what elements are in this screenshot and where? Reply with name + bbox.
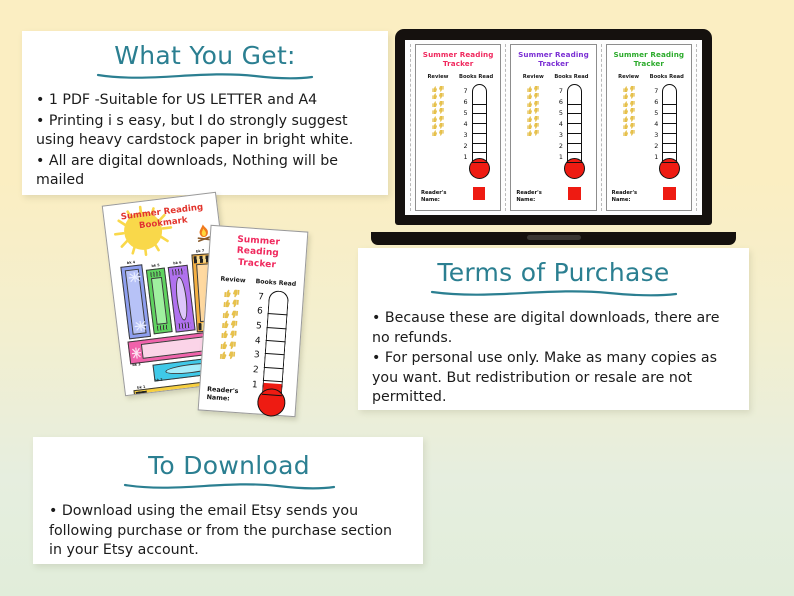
readers-name-line1: Reader's bbox=[516, 190, 541, 196]
review-thumbs-column bbox=[611, 82, 647, 206]
thermometer-tick bbox=[472, 104, 487, 105]
readers-name-line2: Name: bbox=[206, 393, 230, 403]
tracker-title-line1: Summer Reading bbox=[423, 50, 494, 59]
thermometer-tick bbox=[662, 113, 677, 114]
thumb-pair bbox=[623, 101, 635, 107]
thumbs-up-icon bbox=[623, 108, 628, 114]
terms-bullets: • Because these are digital downloads, t… bbox=[372, 309, 735, 408]
thumb-pair bbox=[623, 116, 635, 122]
thumb-pair bbox=[527, 116, 539, 122]
thermometer-tick bbox=[567, 113, 582, 114]
thumbs-down-icon bbox=[630, 123, 635, 129]
tracker-title-line1: Summer Reading bbox=[236, 235, 280, 259]
thumbs-down-icon bbox=[439, 130, 444, 136]
thumbs-down-icon bbox=[534, 123, 539, 129]
scale-number: 1 bbox=[252, 380, 258, 390]
thumbs-down-icon bbox=[630, 130, 635, 136]
thumbs-down-icon bbox=[630, 86, 635, 92]
thumbs-up-icon bbox=[432, 116, 437, 122]
screen-divider bbox=[505, 44, 506, 211]
thermometer-tick bbox=[567, 162, 582, 163]
scale-number: 6 bbox=[257, 307, 263, 317]
thumbs-up-icon bbox=[223, 299, 231, 307]
tracker-header-review: Review bbox=[515, 74, 551, 80]
thumbs-up-icon bbox=[527, 123, 532, 129]
screen-divider bbox=[601, 44, 602, 211]
thumbs-down-icon bbox=[439, 123, 444, 129]
scale-number: 6 bbox=[654, 98, 658, 106]
thumb-pair bbox=[432, 86, 444, 92]
tracker-header-review: Review bbox=[420, 74, 456, 80]
thumb-pair bbox=[432, 123, 444, 129]
title-swoosh-icon bbox=[95, 71, 315, 82]
laptop-screen: Summer Reading Tracker Review Books Read… bbox=[405, 40, 702, 215]
tracker-header-review: Review bbox=[611, 74, 647, 80]
bullet-item: • 1 PDF -Suitable for US LETTER and A4 bbox=[36, 91, 374, 111]
readers-name-line2: Name: bbox=[421, 197, 440, 203]
sparkle-icon bbox=[130, 346, 143, 360]
scale-number: 7 bbox=[654, 87, 658, 95]
scale-number: 4 bbox=[255, 336, 261, 346]
thermometer-icon bbox=[565, 84, 584, 206]
scale-number: 6 bbox=[464, 98, 468, 106]
thumb-pair bbox=[432, 101, 444, 107]
thumbs-down-icon bbox=[630, 108, 635, 114]
thumbs-up-icon bbox=[623, 101, 628, 107]
thumbs-up-icon bbox=[432, 101, 437, 107]
scale-number: 2 bbox=[559, 142, 563, 150]
thumbs-up-icon bbox=[527, 86, 532, 92]
scale-number: 4 bbox=[654, 120, 658, 128]
laptop-lid: Summer Reading Tracker Review Books Read… bbox=[395, 29, 712, 225]
thumbs-down-icon bbox=[439, 116, 444, 122]
thumbs-down-icon bbox=[534, 116, 539, 122]
thumbs-up-icon bbox=[224, 289, 232, 297]
scale-number: 2 bbox=[253, 365, 259, 375]
terms-title: Terms of Purchase bbox=[372, 258, 735, 287]
scale-number: 5 bbox=[654, 109, 658, 117]
thumbs-up-icon bbox=[432, 108, 437, 114]
thumbs-down-icon bbox=[534, 101, 539, 107]
thumbs-up-icon bbox=[623, 123, 628, 129]
thermometer-tick bbox=[567, 123, 582, 124]
thumb-pair bbox=[432, 130, 444, 136]
thermometer-tick bbox=[567, 143, 582, 144]
download-title: To Download bbox=[49, 451, 409, 480]
bullet-item: • Download using the email Etsy sends yo… bbox=[49, 502, 409, 561]
scale-number: 3 bbox=[654, 131, 658, 139]
thumb-pair bbox=[527, 86, 539, 92]
scale-number: 4 bbox=[559, 120, 563, 128]
thermometer-icon bbox=[470, 84, 489, 206]
thumbs-down-icon bbox=[229, 341, 237, 349]
thumbs-down-icon bbox=[534, 130, 539, 136]
thermometer-tick bbox=[662, 143, 677, 144]
tracker-title-line2: Tracker bbox=[538, 59, 568, 68]
thumbs-up-icon bbox=[623, 93, 628, 99]
scale-number: 1 bbox=[559, 153, 563, 161]
tracker-header-books: Books Read bbox=[456, 74, 496, 80]
thumbs-up-icon bbox=[220, 341, 228, 349]
thermometer-tick bbox=[662, 104, 677, 105]
thermometer-tick bbox=[567, 152, 582, 153]
thumbs-up-icon bbox=[623, 130, 628, 136]
laptop-base bbox=[371, 232, 736, 245]
thumbs-down-icon bbox=[630, 93, 635, 99]
thumbs-up-icon bbox=[219, 351, 227, 359]
readers-name-line2: Name: bbox=[516, 197, 535, 203]
bullet-item: • For personal use only. Make as many co… bbox=[372, 349, 735, 408]
tracker-title-line2: Tracker bbox=[238, 257, 277, 270]
bullet-item: • Printing i s easy, but I do strongly s… bbox=[36, 112, 374, 151]
thumbs-down-icon bbox=[233, 289, 241, 297]
thumb-pair bbox=[221, 330, 238, 339]
what-you-get-card: What You Get: • 1 PDF -Suitable for US L… bbox=[22, 31, 388, 195]
readers-name-line2: Name: bbox=[612, 197, 631, 203]
tracker-title-line1: Summer Reading bbox=[613, 50, 684, 59]
laptop-trackpad-notch bbox=[527, 235, 581, 240]
thumb-pair bbox=[527, 123, 539, 129]
tracker-card: Summer Reading Tracker Review Books Read… bbox=[606, 44, 692, 211]
readers-name-line1: Reader's bbox=[421, 190, 446, 196]
review-thumbs-column bbox=[515, 82, 551, 206]
bullet-item: • Because these are digital downloads, t… bbox=[372, 309, 735, 348]
scale-number: 7 bbox=[464, 87, 468, 95]
thumbs-down-icon bbox=[232, 300, 240, 308]
thumbs-up-icon bbox=[527, 93, 532, 99]
tracker-card: Summer Reading Tracker Review Books Read… bbox=[510, 44, 596, 211]
tracker-title-line2: Tracker bbox=[634, 59, 664, 68]
thumb-pair bbox=[223, 299, 240, 308]
book-label: bk 3 bbox=[132, 362, 141, 367]
scale-number: 3 bbox=[254, 351, 260, 361]
scale-number: 6 bbox=[559, 98, 563, 106]
thumbs-up-icon bbox=[527, 116, 532, 122]
book-label: bk 2 bbox=[154, 378, 163, 383]
thumbs-up-icon bbox=[432, 86, 437, 92]
thermometer-tick bbox=[662, 152, 677, 153]
thumb-pair bbox=[222, 309, 239, 318]
thumb-pair bbox=[623, 86, 635, 92]
scale-number: 5 bbox=[256, 321, 262, 331]
scale-number: 3 bbox=[464, 131, 468, 139]
title-swoosh-icon bbox=[122, 481, 337, 492]
title-swoosh-icon bbox=[429, 288, 679, 299]
thermometer-tick bbox=[472, 152, 487, 153]
thumb-pair bbox=[220, 341, 237, 350]
thermometer-tick bbox=[662, 123, 677, 124]
thermometer-tick bbox=[567, 133, 582, 134]
thumb-pair bbox=[623, 93, 635, 99]
laptop-mockup: Summer Reading Tracker Review Books Read… bbox=[371, 29, 736, 245]
scale-number: 1 bbox=[464, 153, 468, 161]
thumbs-up-icon bbox=[222, 309, 230, 317]
what-you-get-title: What You Get: bbox=[36, 41, 374, 70]
thumbs-up-icon bbox=[432, 93, 437, 99]
thumbs-up-icon bbox=[527, 101, 532, 107]
thumb-pair bbox=[623, 130, 635, 136]
terms-of-purchase-card: Terms of Purchase • Because these are di… bbox=[358, 248, 749, 410]
thumbs-up-icon bbox=[432, 123, 437, 129]
scale-number: 3 bbox=[559, 131, 563, 139]
thermometer-tick bbox=[662, 162, 677, 163]
thumb-pair bbox=[222, 320, 239, 329]
thumb-pair bbox=[527, 101, 539, 107]
thumb-pair bbox=[432, 93, 444, 99]
scale-number: 5 bbox=[559, 109, 563, 117]
thumb-pair bbox=[527, 108, 539, 114]
thumbs-down-icon bbox=[231, 320, 239, 328]
what-you-get-bullets: • 1 PDF -Suitable for US LETTER and A4 •… bbox=[36, 91, 374, 191]
thumb-pair bbox=[527, 130, 539, 136]
screen-divider bbox=[410, 44, 411, 211]
thumbs-down-icon bbox=[231, 310, 239, 318]
thumbs-down-icon bbox=[439, 93, 444, 99]
thumbs-up-icon bbox=[432, 130, 437, 136]
tracker-header-review: Review bbox=[213, 275, 254, 285]
scale-number: 7 bbox=[559, 87, 563, 95]
scale-number: 5 bbox=[464, 109, 468, 117]
thermometer-icon bbox=[660, 84, 679, 206]
bullet-item: • All are digital downloads, Nothing wil… bbox=[36, 152, 374, 191]
scale-number: 7 bbox=[258, 292, 264, 302]
thumbs-up-icon bbox=[221, 330, 229, 338]
thumbs-down-icon bbox=[228, 351, 236, 359]
tracker-header-books: Books Read bbox=[647, 74, 687, 80]
tracker-title-line1: Summer Reading bbox=[518, 50, 589, 59]
review-thumbs-column bbox=[420, 82, 456, 206]
thumbs-down-icon bbox=[534, 108, 539, 114]
download-bullets: • Download using the email Etsy sends yo… bbox=[49, 502, 409, 561]
thermometer-tick bbox=[567, 104, 582, 105]
screen-divider bbox=[696, 44, 697, 211]
thumb-pair bbox=[224, 289, 241, 298]
thumbs-up-icon bbox=[222, 320, 230, 328]
thermometer-tick bbox=[472, 113, 487, 114]
thumbs-down-icon bbox=[630, 101, 635, 107]
thermometer-tick bbox=[472, 143, 487, 144]
vertical-book bbox=[168, 265, 196, 333]
thermometer-tick bbox=[472, 133, 487, 134]
thumbs-up-icon bbox=[623, 116, 628, 122]
thumbs-down-icon bbox=[230, 331, 238, 339]
scale-number: 4 bbox=[464, 120, 468, 128]
thumbs-down-icon bbox=[439, 101, 444, 107]
thumb-pair bbox=[219, 351, 236, 360]
thumbs-up-icon bbox=[527, 108, 532, 114]
to-download-card: To Download • Download using the email E… bbox=[33, 437, 423, 564]
scale-number: 2 bbox=[464, 142, 468, 150]
tracker-header-books: Books Read bbox=[551, 74, 591, 80]
tracker-printable: Summer Reading Tracker Review Books Read… bbox=[198, 225, 309, 417]
thumb-pair bbox=[623, 108, 635, 114]
thumb-pair bbox=[527, 93, 539, 99]
thermometer-tick bbox=[662, 133, 677, 134]
sparkle-icon bbox=[126, 270, 143, 284]
scale-number: 1 bbox=[654, 153, 658, 161]
thumbs-up-icon bbox=[527, 130, 532, 136]
thumbs-down-icon bbox=[534, 86, 539, 92]
thumbs-down-icon bbox=[630, 116, 635, 122]
thumb-pair bbox=[432, 108, 444, 114]
thermometer-tick bbox=[472, 123, 487, 124]
thumbs-up-icon bbox=[623, 86, 628, 92]
thumbs-down-icon bbox=[439, 108, 444, 114]
thumbs-down-icon bbox=[439, 86, 444, 92]
thumbs-down-icon bbox=[534, 93, 539, 99]
scale-number: 2 bbox=[654, 142, 658, 150]
tracker-card: Summer Reading Tracker Review Books Read… bbox=[415, 44, 501, 211]
tracker-title-line2: Tracker bbox=[443, 59, 473, 68]
sparkle-icon bbox=[132, 319, 149, 333]
thumb-pair bbox=[432, 116, 444, 122]
readers-name-line1: Reader's bbox=[612, 190, 637, 196]
thumb-pair bbox=[623, 123, 635, 129]
thermometer-tick bbox=[472, 162, 487, 163]
